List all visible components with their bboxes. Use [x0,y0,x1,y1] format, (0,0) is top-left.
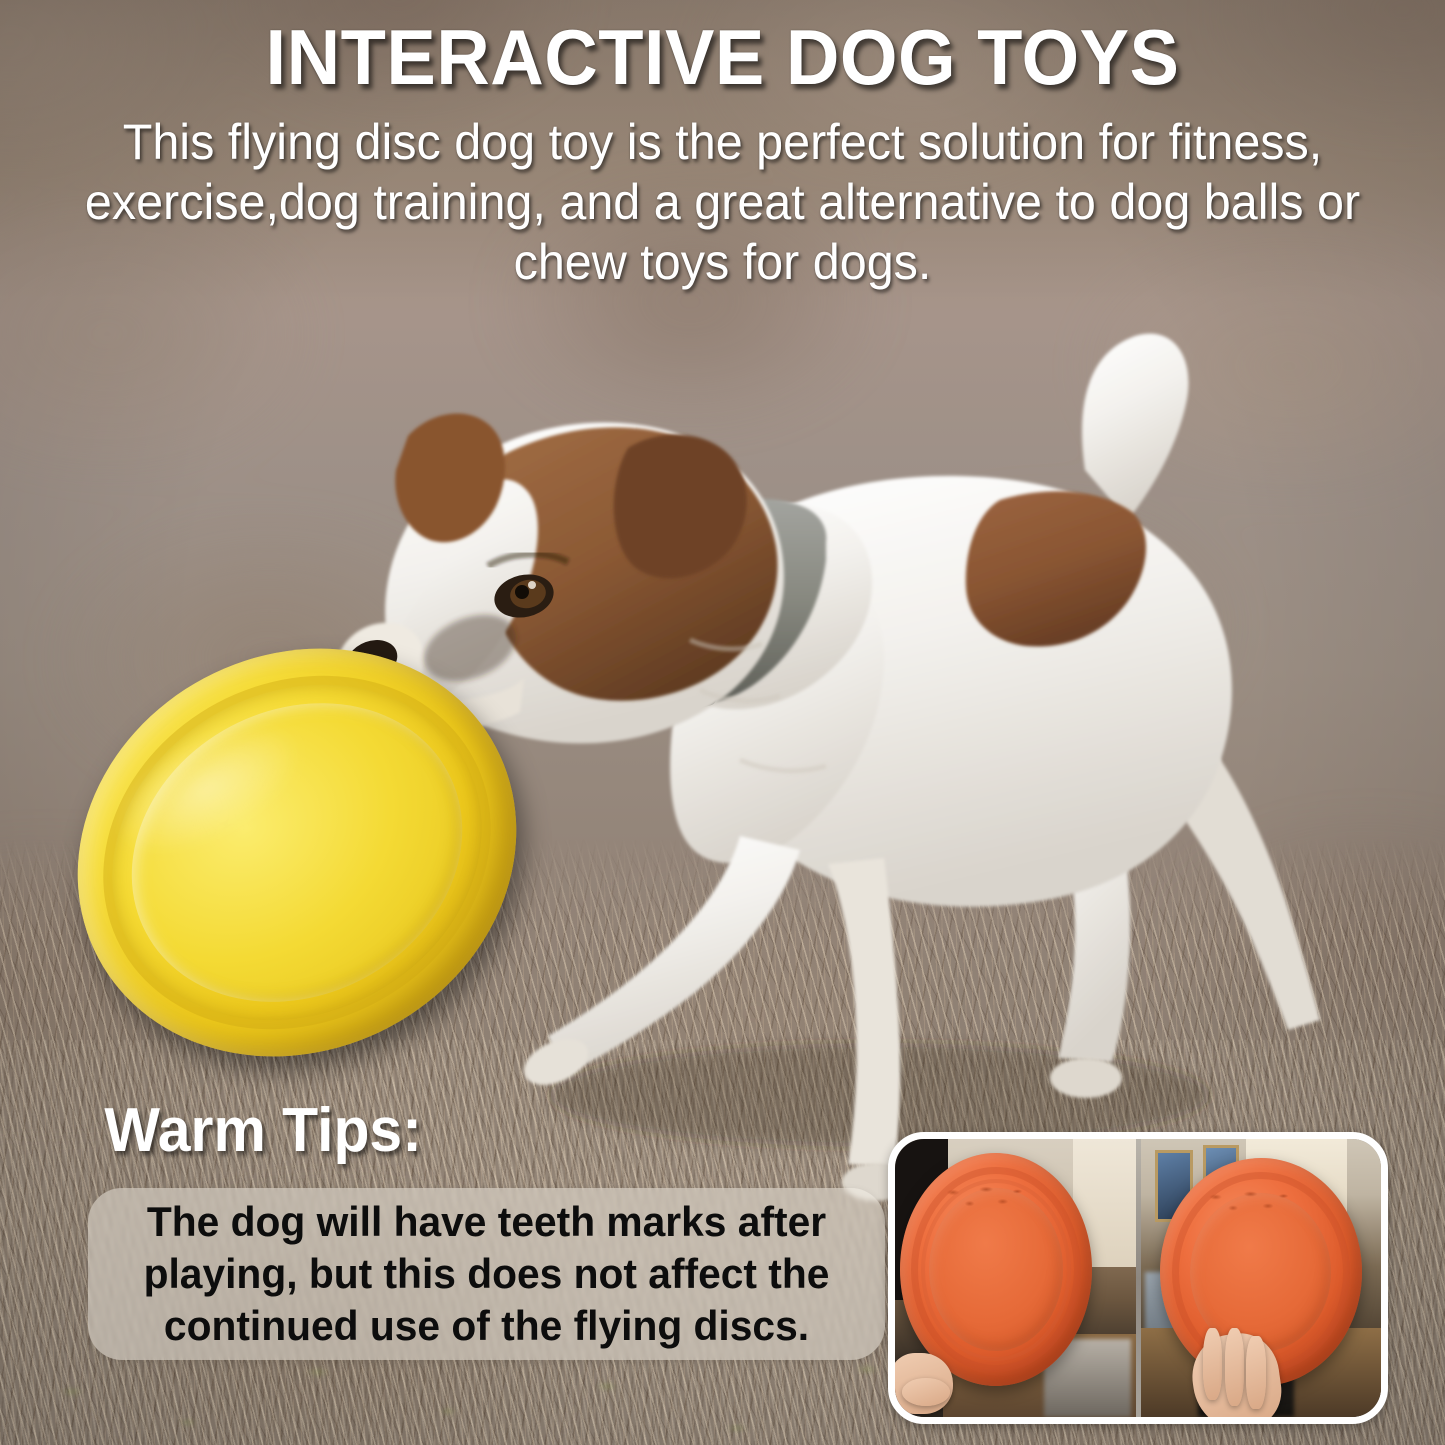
teeth-marks-right [1204,1177,1301,1227]
warm-tips-panel: The dog will have teeth marks after play… [88,1188,885,1360]
finger-two-right [1225,1328,1244,1406]
warm-tips-heading: Warm Tips: [104,1098,421,1164]
page-title: INTERACTIVE DOG TOYS [36,14,1409,100]
inset-photo-left [895,1139,1136,1417]
inset-photo-right [1141,1139,1382,1417]
page-subtitle: This flying disc dog toy is the perfect … [55,112,1391,292]
finger-three-right [1246,1336,1265,1408]
orange-disc-left [900,1153,1092,1387]
fingers-left [902,1378,950,1406]
teeth-marks-left [942,1172,1034,1223]
product-infographic-poster: INTERACTIVE DOG TOYS This flying disc do… [0,0,1445,1445]
warm-tips-body: The dog will have teeth marks after play… [100,1196,873,1352]
inset-photo-frame [888,1132,1388,1424]
finger-one-right [1203,1328,1222,1400]
